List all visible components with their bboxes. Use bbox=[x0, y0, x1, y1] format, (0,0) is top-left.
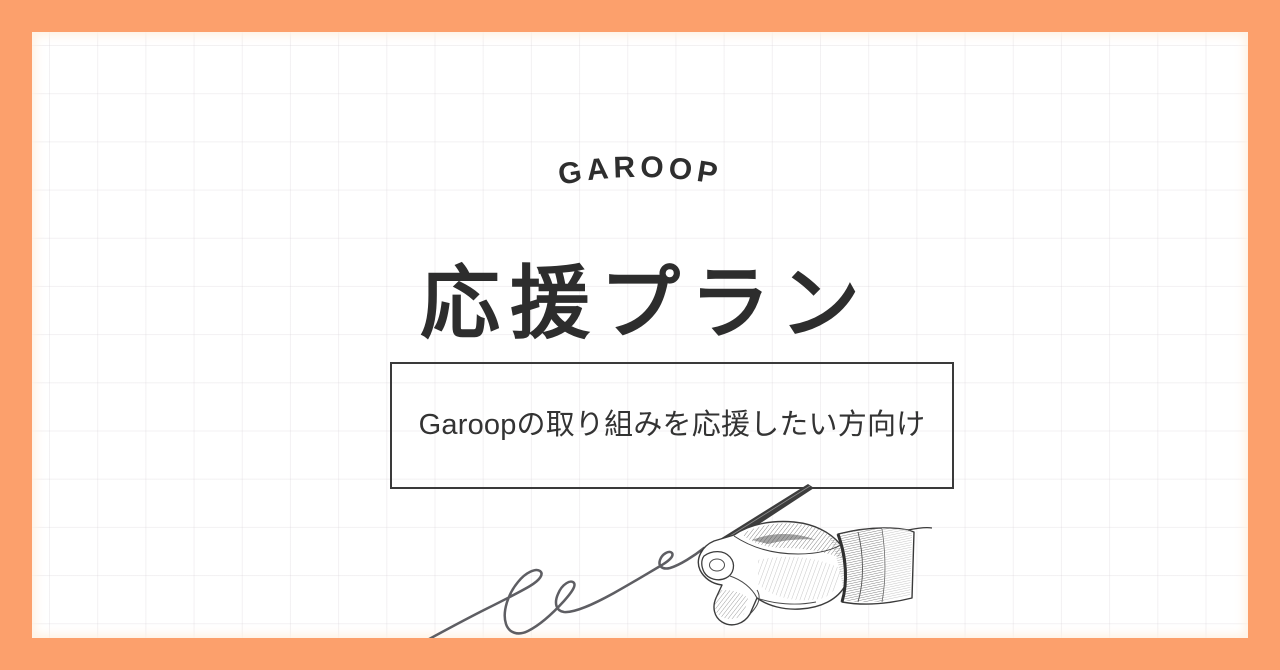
poster-frame: GAROOP 応援プラン Garoopの取り組みを応援したい方向け bbox=[0, 0, 1280, 670]
hand-writing-icon bbox=[698, 522, 850, 625]
pen-icon bbox=[700, 484, 814, 556]
brand-wordmark-text: GAROOP bbox=[556, 151, 725, 192]
page-title: 応援プラン bbox=[32, 264, 1248, 344]
grid-paper-canvas: GAROOP 応援プラン Garoopの取り組みを応援したい方向け bbox=[32, 32, 1248, 638]
signature-squiggle-icon bbox=[420, 548, 704, 638]
shirt-cuff-icon bbox=[836, 526, 932, 608]
tagline-text: Garoopの取り組みを応援したい方向け bbox=[401, 405, 944, 446]
hand-writing-illustration bbox=[412, 472, 932, 638]
brand-wordmark: GAROOP bbox=[32, 136, 1248, 206]
tagline-box: Garoopの取り組みを応援したい方向け bbox=[390, 362, 954, 489]
